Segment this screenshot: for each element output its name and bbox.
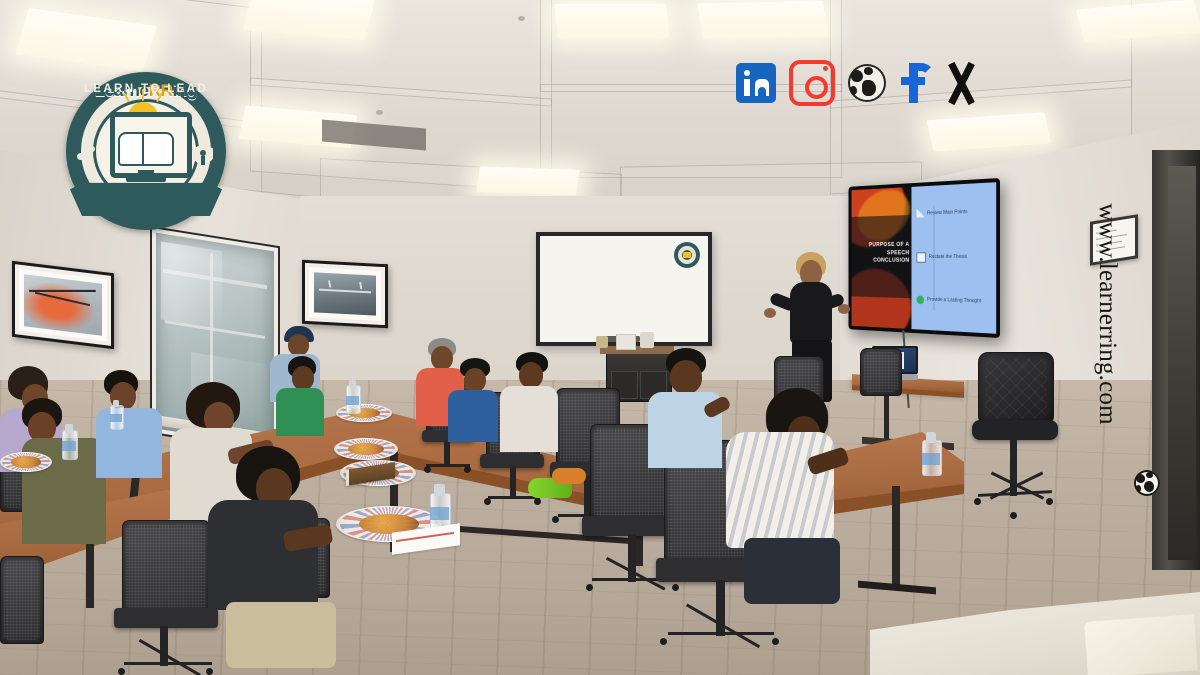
linkedin-icon[interactable] <box>736 63 776 103</box>
slide-title: PURPOSE OF A SPEECH CONCLUSION <box>854 241 909 266</box>
student-head <box>519 362 543 388</box>
water-bottle <box>922 432 940 476</box>
presenter-hand-right <box>838 304 850 314</box>
student-head <box>670 360 702 394</box>
helicopter-photo-frame <box>12 261 114 350</box>
learnerring-logo: LearneRRing LEARN TO LEAD <box>66 72 226 230</box>
open-book-icon <box>118 132 174 162</box>
student-torso <box>500 386 558 452</box>
chart-arrow-icon <box>916 209 924 218</box>
aircraft-photo-frame <box>302 260 388 329</box>
student-head <box>292 366 314 390</box>
slide-bullet: Restate the Thesis <box>916 252 992 263</box>
chair[interactable] <box>0 556 70 675</box>
student <box>96 370 170 480</box>
student <box>726 388 850 618</box>
student-shorts <box>744 538 840 604</box>
green-dot-icon <box>916 295 924 304</box>
network-node-icon <box>80 146 102 170</box>
paper-plate <box>336 404 392 422</box>
student-head <box>288 334 309 356</box>
paper-plate <box>334 438 398 460</box>
student-torso <box>448 390 498 442</box>
student <box>500 352 564 452</box>
whiteboard <box>536 232 712 346</box>
student-torso <box>276 388 324 436</box>
smoke-detector-icon <box>376 110 383 115</box>
ceiling-fixture-dot <box>518 16 525 21</box>
student <box>276 356 328 436</box>
monitor-foot <box>126 177 166 182</box>
instagram-icon[interactable] <box>789 60 835 106</box>
student <box>208 446 348 675</box>
slide-bullet: Review Main Points <box>916 207 992 218</box>
student-torso <box>208 500 318 610</box>
supply-cup <box>596 336 608 348</box>
slide-bullet-label: Restate the Thesis <box>929 254 967 260</box>
logo-tagline: LEARN TO LEAD <box>66 83 226 95</box>
student-torso <box>96 408 162 478</box>
social-icon-bar <box>736 57 980 109</box>
leather-stool-chair[interactable] <box>972 352 1058 532</box>
presenter-hand-left <box>764 308 776 318</box>
website-url[interactable]: www.learnerring.com <box>1093 149 1121 479</box>
student-head <box>464 368 486 392</box>
ceiling-light-panel <box>554 4 670 38</box>
water-bottle <box>62 424 76 460</box>
student <box>648 348 732 468</box>
table-leg <box>86 540 94 608</box>
student-torso <box>726 432 834 548</box>
sneaker <box>552 468 586 484</box>
website-globe-icon[interactable] <box>848 64 886 102</box>
document-icon <box>916 252 925 262</box>
wall-mounted-tv: PURPOSE OF A SPEECH CONCLUSION Review Ma… <box>849 178 1000 338</box>
presenter-torso <box>790 282 832 344</box>
slide-bullet-label: Review Main Points <box>927 209 967 216</box>
globe-icon <box>1134 470 1160 496</box>
door-frame <box>1152 150 1200 570</box>
slide-bullet-label: Provide a Lasting Thought <box>927 297 981 305</box>
slide-bullet-panel: Review Main Points Restate the Thesis Pr… <box>911 182 996 334</box>
slide-bullet: Provide a Lasting Thought <box>916 295 992 306</box>
supply-cup <box>640 332 654 348</box>
tissue-box <box>616 334 636 350</box>
ceiling-light-panel <box>697 1 829 39</box>
water-bottle <box>110 400 122 430</box>
slide-title-panel: PURPOSE OF A SPEECH CONCLUSION <box>852 187 912 329</box>
paper-plate <box>0 452 52 472</box>
facebook-icon[interactable] <box>899 63 927 103</box>
ceiling-light-panel <box>476 166 580 195</box>
student-shorts <box>226 602 336 668</box>
logo-banner <box>70 180 222 216</box>
door-glass <box>1168 166 1196 560</box>
whiteboard-logo <box>674 242 700 268</box>
chair[interactable] <box>854 348 910 444</box>
event-photo: PURPOSE OF A SPEECH CONCLUSION Review Ma… <box>0 0 1200 675</box>
water-bottle <box>346 380 359 414</box>
x-twitter-icon[interactable] <box>940 63 980 103</box>
student <box>448 358 504 442</box>
table-leg <box>892 486 900 590</box>
